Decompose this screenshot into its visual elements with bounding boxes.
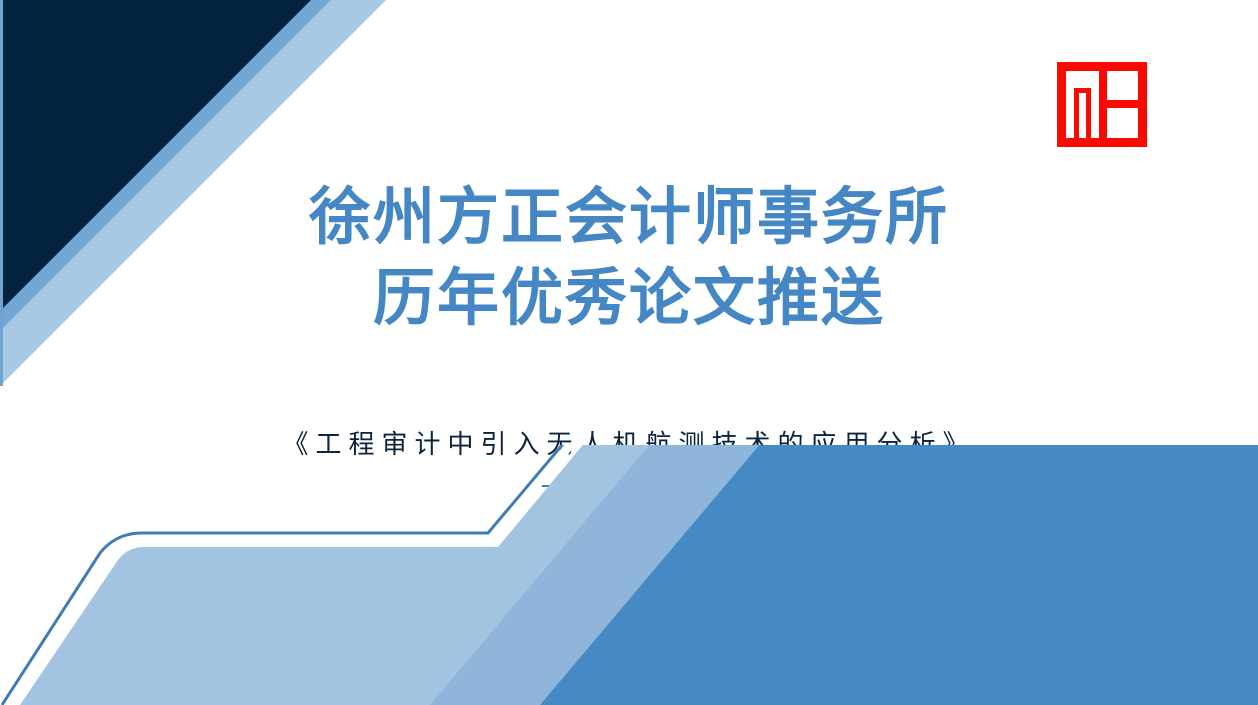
bottom-right-decoration <box>0 445 1258 705</box>
bottom-shape-outline <box>2 445 606 705</box>
page-title-line-1: 徐州方正会计师事务所 <box>0 182 1258 251</box>
logo-cutout-upper-right <box>1107 71 1138 100</box>
bottom-shape-dark-band <box>540 445 1258 705</box>
subtitle-divider <box>541 485 741 487</box>
logo-cutout-left-panel <box>1066 71 1099 138</box>
bottom-shape-white-gap <box>8 445 610 705</box>
company-logo <box>1057 62 1147 147</box>
bottom-shape-light-fill <box>20 445 1258 705</box>
logo-cutout-lower-right <box>1107 108 1138 138</box>
bottom-shape-medium-band <box>430 445 1258 705</box>
page-title-line-2: 历年优秀论文推送 <box>0 263 1258 332</box>
title-slide: 徐州方正会计师事务所 历年优秀论文推送 《工程审计中引入无人机航测技术的应用分析… <box>0 0 1258 705</box>
title-block: 徐州方正会计师事务所 历年优秀论文推送 <box>0 182 1258 333</box>
subtitle-paper-name: 《工程审计中引入无人机航测技术的应用分析》 <box>0 424 1258 461</box>
